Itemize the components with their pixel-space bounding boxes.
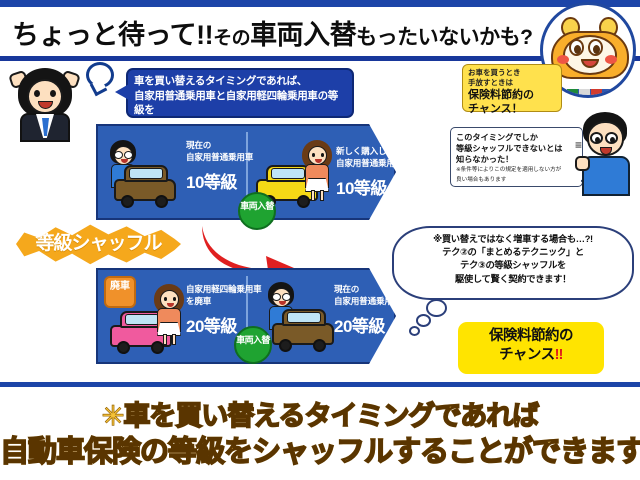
page-title: ちょっと待って!!その車両入替もったいないかも? xyxy=(12,15,532,55)
thought-line-2: テク②の「まとめるテクニック」と xyxy=(403,246,623,259)
white-bubble-line-1: このタイミングでしか xyxy=(456,132,577,143)
person-leg-left xyxy=(163,334,167,345)
title-small: その xyxy=(213,28,250,49)
panel-bottom-right-label: 現在の 自家用普通乗用車 20等級 xyxy=(334,284,410,337)
title-tail: もったいないかも? xyxy=(356,26,532,49)
chance-text: チャンス xyxy=(499,347,555,363)
caption-line-2: 自家用普通乗用車 xyxy=(336,158,412,170)
person-leg-right xyxy=(172,334,176,345)
person-skirt xyxy=(157,322,181,336)
caption-line-1: 新しく購入した xyxy=(336,146,412,158)
glasses-man-character: ≡ xyxy=(575,112,637,196)
glasses-man-hand xyxy=(575,156,590,171)
caption-line-2: 自家用普通乗用車 xyxy=(186,152,258,164)
thought-tail-dot-medium xyxy=(416,314,431,327)
yellow-note-box: お車を買うとき 手放すときは 保険料節約の チャンス！ xyxy=(462,64,562,112)
footer-line-1-text: 車を買い替えるタイミングであれば xyxy=(123,401,538,431)
caption-line-2: を廃車 xyxy=(186,296,262,308)
mascot-cheek-left xyxy=(557,55,569,64)
yellow-note-line-2: 手放すときは xyxy=(468,78,556,88)
car-wheel-front xyxy=(279,339,292,352)
yellow-note-line-4: チャンス！ xyxy=(468,103,556,116)
person-skirt xyxy=(305,178,329,192)
panel-bottom-left-person xyxy=(152,284,186,348)
footer-line-2: 自動車保険の等級をシャッフルすることができます✳ xyxy=(0,428,640,470)
person-glasses-right xyxy=(282,293,291,301)
grade-value: 20等級 xyxy=(334,312,410,337)
car-window xyxy=(287,312,321,323)
header-top-rule xyxy=(0,0,640,7)
person-leg-right xyxy=(320,190,324,201)
car-wheel-front xyxy=(117,341,130,354)
car-wheel-front xyxy=(121,195,134,208)
panel-bottom-right-car xyxy=(272,302,336,352)
white-bubble-footnote-2: 良い場合もあります xyxy=(456,177,577,185)
glasses-lens-left xyxy=(590,132,603,144)
glasses-lens-right xyxy=(605,132,618,144)
small-thought-bubble-icon xyxy=(86,62,114,88)
chance-marks: ‼ xyxy=(555,347,563,363)
businessman-character xyxy=(8,66,82,142)
thought-line-3: テク③の等級シャッフルを xyxy=(403,259,623,272)
grade-shuffle-label: 等級シャッフル xyxy=(16,222,181,266)
thought-tail-dot-large xyxy=(426,299,447,317)
panel-top-right-label: 新しく購入した 自家用普通乗用車 10等級 xyxy=(336,146,412,199)
thought-line-4: 駆使して賢く契約できます！ xyxy=(403,273,623,286)
savings-chance-box: 保険料節約の チャンス‼ xyxy=(458,322,604,374)
blue-bubble-line-1: 車を買い替えるタイミングであれば、 xyxy=(134,74,346,89)
white-speech-bubble: このタイミングでしか 等級シャッフルできないとは 知らなかった！ ※条件等により… xyxy=(450,127,583,187)
thought-bubble: ※買い替えではなく増車する場合も…?! テク②の「まとめるテクニック」と テク③… xyxy=(392,226,634,300)
panel-top-left-label: 現在の 自家用普通乗用車 10等級 xyxy=(186,140,258,193)
footer-rule xyxy=(0,382,640,387)
grade-value: 10等級 xyxy=(336,174,412,199)
chance-line-2: チャンス‼ xyxy=(458,346,604,365)
star-icon-left: ✳ xyxy=(102,401,124,431)
car-window xyxy=(129,168,163,179)
infographic-canvas: ちょっと待って!!その車両入替もったいないかも? 車を買い替えるタイミングであれ… xyxy=(0,0,640,480)
blue-speech-bubble: 車を買い替えるタイミングであれば、 自家用普通乗用車と自家用軽四輪乗用車の等級を… xyxy=(126,68,354,118)
mascot-stripe xyxy=(567,89,613,96)
car-wheel-rear xyxy=(313,339,326,352)
white-bubble-footnote-1: ※条件等によりこの規定を適用しない方が xyxy=(456,167,577,175)
person-leg-left xyxy=(311,190,315,201)
grade-value: 10等級 xyxy=(186,168,258,193)
mascot-eye-right xyxy=(588,39,603,56)
chance-line-1: 保険料節約の xyxy=(458,327,604,346)
caption-line-1: 現在の xyxy=(186,140,258,152)
car-wheel-rear xyxy=(155,195,168,208)
title-mid: 車両入替 xyxy=(250,20,356,50)
blue-bubble-line-2: 自家用普通乗用車と自家用軽四輪乗用車の等級を xyxy=(134,89,346,118)
panel-top-right-person xyxy=(300,140,334,204)
caption-line-2: 自家用普通乗用車 xyxy=(334,296,410,308)
mascot-cheek-right xyxy=(605,55,617,64)
businessman-eye-left xyxy=(34,90,40,97)
white-bubble-line-3: 知らなかった！ xyxy=(456,154,577,165)
thought-tail-dot-small xyxy=(409,326,420,336)
caption-line-1: 自家用軽四輪乗用車 xyxy=(186,284,262,296)
person-glasses-left xyxy=(272,293,281,301)
thought-line-1: ※買い替えではなく増車する場合も…?! xyxy=(403,233,623,246)
businessman-eye-right xyxy=(50,90,56,97)
badge-vehicle-replacement-bottom: 車両入替 xyxy=(234,326,272,364)
mascot-eye-left xyxy=(569,39,584,56)
footer-line-2-text: 自動車保険の等級をシャッフルすることができます xyxy=(0,436,640,468)
panel-top-left-car xyxy=(114,158,178,208)
yellow-note-line-3: 保険料節約の xyxy=(468,89,556,102)
title-main: ちょっと待って!! xyxy=(12,20,213,50)
yellow-note-line-1: お車を買うとき xyxy=(468,68,556,78)
white-bubble-line-2: 等級シャッフルできないとは xyxy=(456,143,577,154)
